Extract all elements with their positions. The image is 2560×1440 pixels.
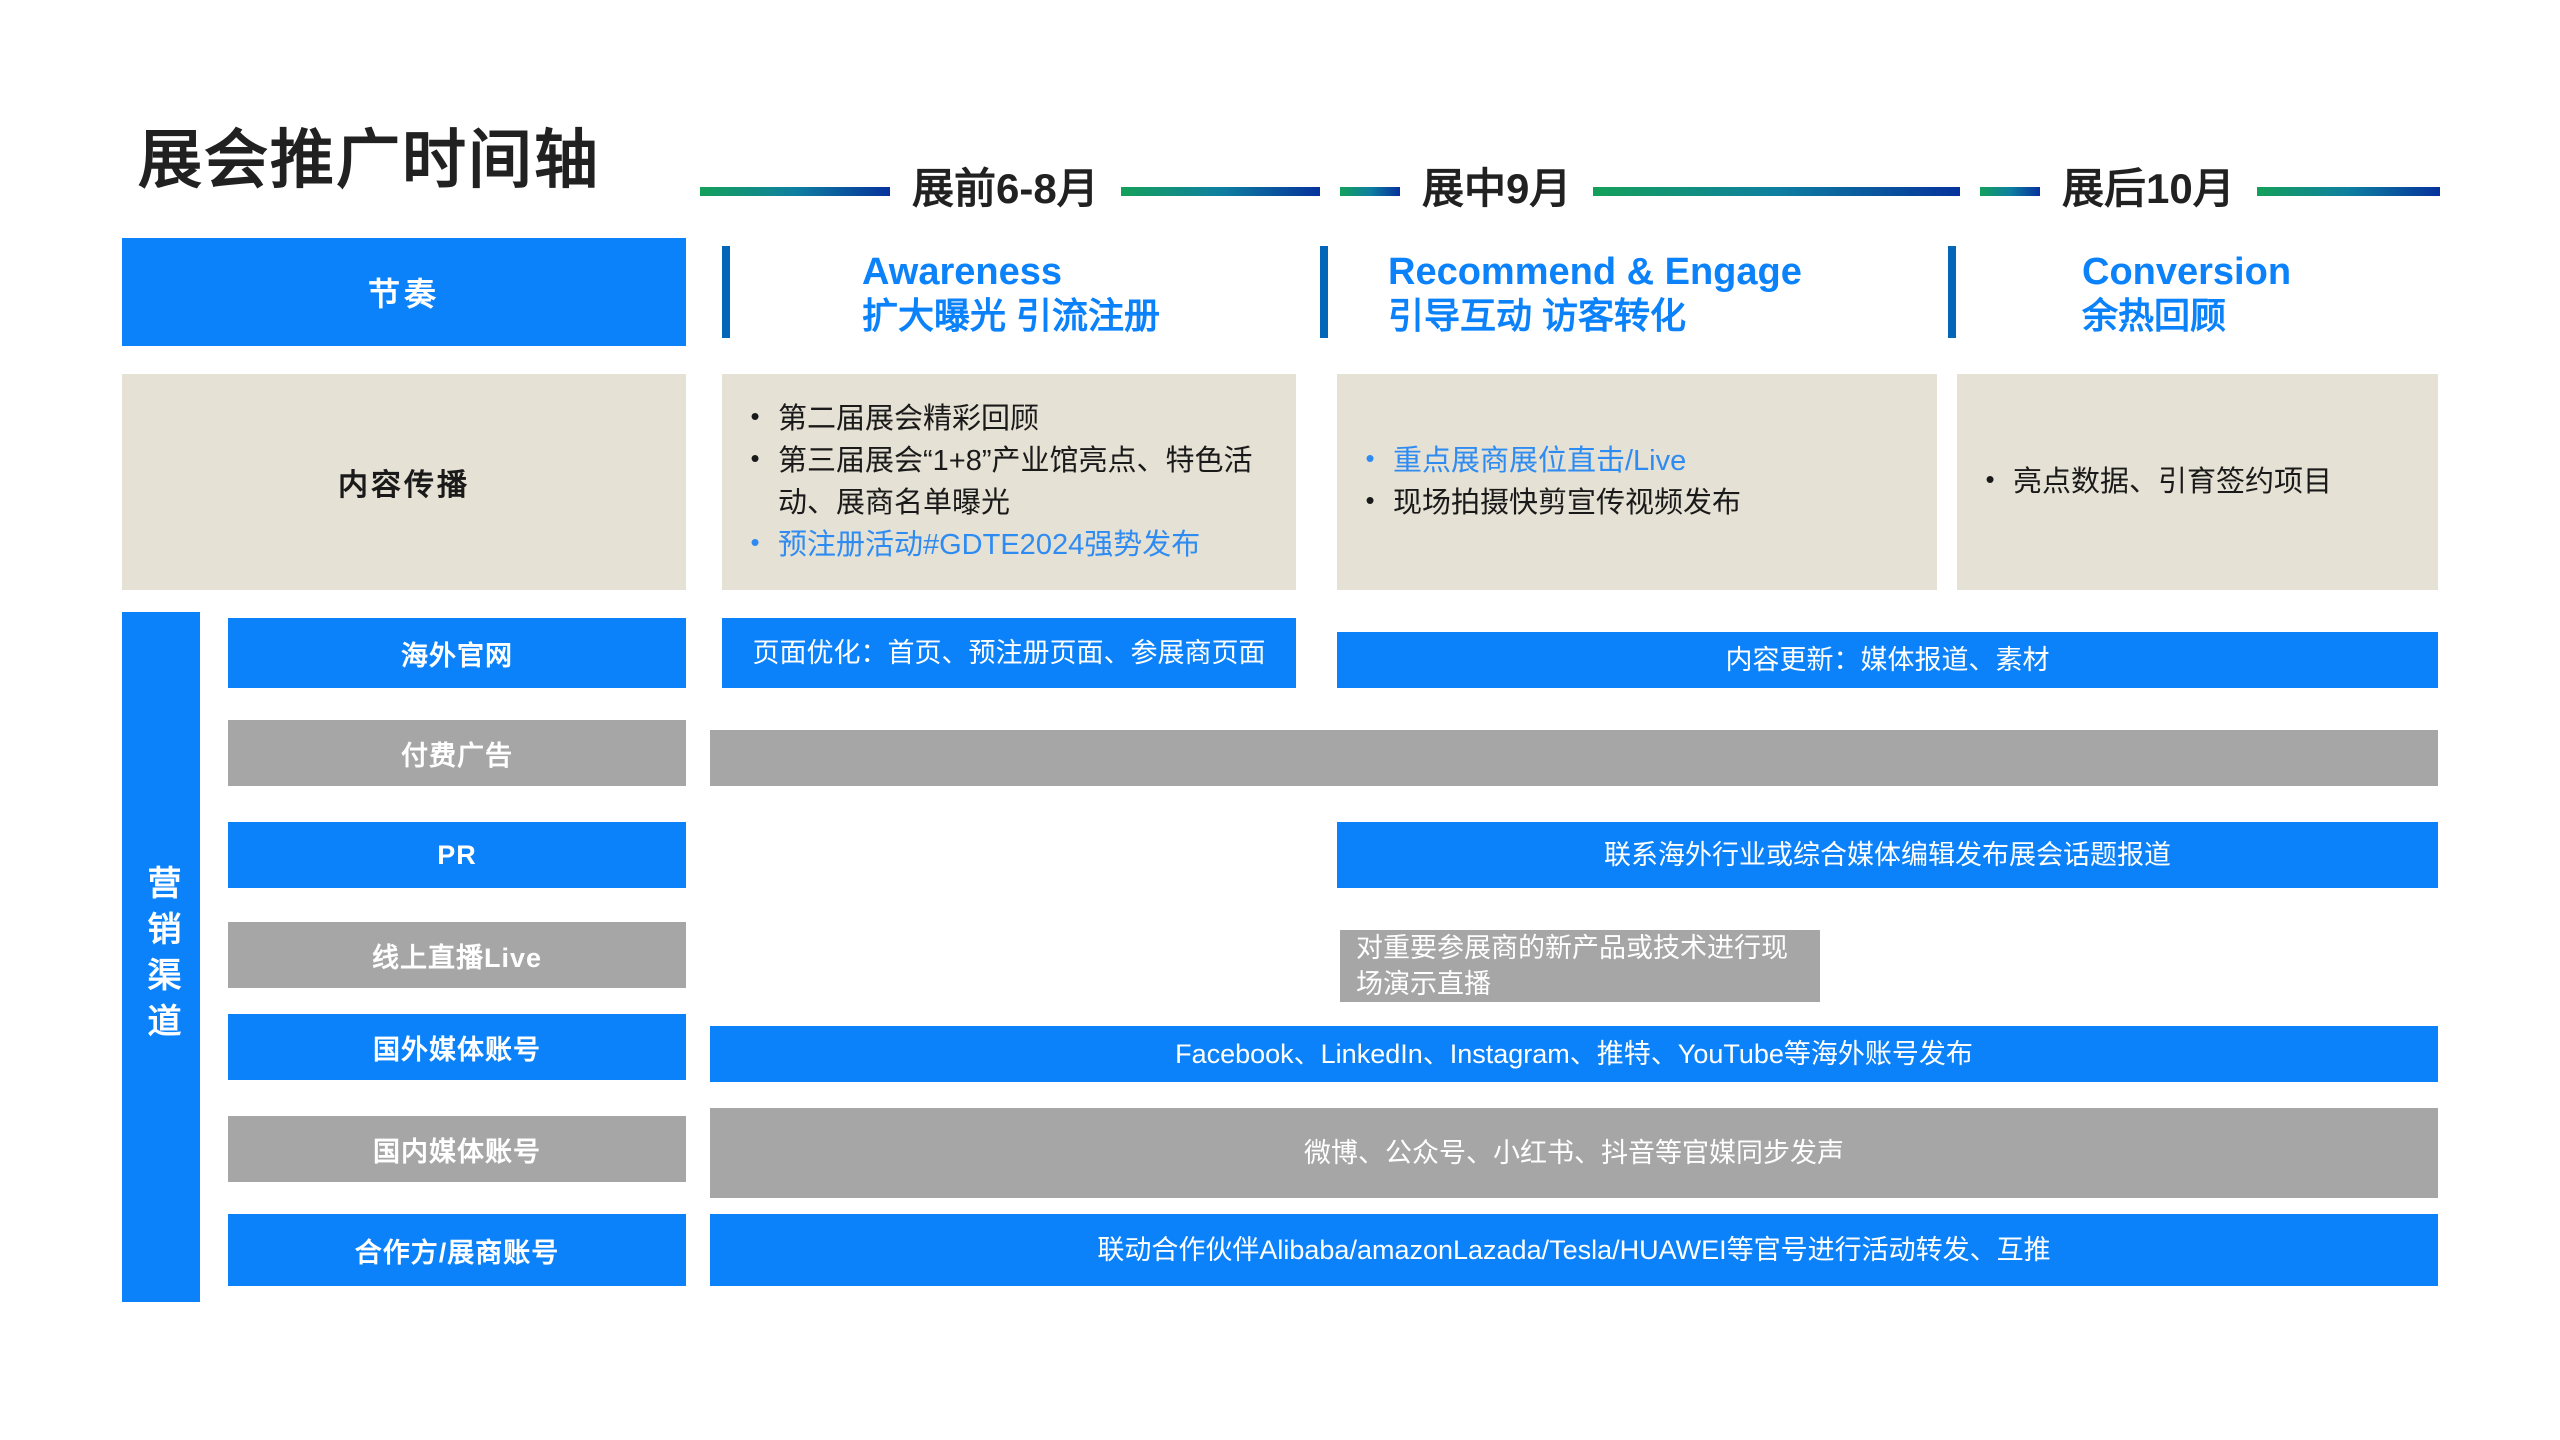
pace-en-label: Conversion [2082,250,2522,295]
bullet-dot-icon: • [1347,482,1393,520]
content-bullet: • 第三届展会“1+8”产业馆亮点、特色活动、展商名单曝光 [732,440,1270,524]
channel-bar-overseas-media-full[interactable]: Facebook、LinkedIn、Instagram、推特、YouTube等海… [710,1026,2438,1082]
channel-bar-text: Facebook、LinkedIn、Instagram、推特、YouTube等海… [724,1036,2424,1072]
channel-label-text: 线上直播Live [372,936,542,975]
timeline-line-icon [700,187,890,196]
pace-divider-1 [722,246,730,338]
content-cell-post: • 亮点数据、引育签约项目 [1957,374,2438,590]
timeline-line-icon [2257,187,2440,196]
channel-label-text: 国内媒体账号 [373,1130,541,1169]
row-label-content-text: 内容传播 [338,460,470,504]
channel-label-overseas-site[interactable]: 海外官网 [228,618,686,688]
timeline-phase-label: 展前6-8月 [912,168,1099,214]
bullet-dot-icon: • [732,398,778,436]
channel-label-text: PR [437,840,477,871]
channel-bar-text: 微博、公众号、小红书、抖音等官媒同步发声 [724,1135,2424,1171]
timeline-line-icon [1121,187,1320,196]
row-label-content: 内容传播 [122,374,686,590]
timeline-phase-post: 展后10月 [1980,160,2440,222]
channel-label-partner-exhibitor[interactable]: 合作方/展商账号 [228,1214,686,1286]
pace-en-label: Recommend & Engage [1388,250,1928,295]
bullet-dot-icon: • [732,524,778,562]
content-cell-pre: • 第二届展会精彩回顾 • 第三届展会“1+8”产业馆亮点、特色活动、展商名单曝… [722,374,1296,590]
row-label-pace-text: 节奏 [368,269,440,315]
pace-cn-label: 余热回顾 [2082,295,2522,337]
channel-label-domestic-media[interactable]: 国内媒体账号 [228,1116,686,1182]
channel-bar-overseas-site-pre[interactable]: 页面优化：首页、预注册页面、参展商页面 [722,618,1296,688]
channel-bar-text: 联系海外行业或综合媒体编辑发布展会话题报道 [1351,837,2424,873]
channel-label-pr[interactable]: PR [228,822,686,888]
channel-label-text: 国外媒体账号 [373,1028,541,1067]
channel-label-text: 合作方/展商账号 [355,1231,560,1270]
timeline-line-icon [1340,187,1400,196]
content-cell-mid: • 重点展商展位直击/Live • 现场拍摄快剪宣传视频发布 [1337,374,1937,590]
channel-bar-text: 内容更新：媒体报道、素材 [1351,642,2424,678]
content-bullet-text: 第二届展会精彩回顾 [778,398,1270,440]
pace-cn-label: 扩大曝光 引流注册 [862,295,1302,337]
timeline-phase-label: 展中9月 [1422,168,1571,214]
row-label-pace: 节奏 [122,238,686,346]
content-bullet-text: 亮点数据、引育签约项目 [2013,461,2412,503]
content-bullet-text: 重点展商展位直击/Live [1393,440,1911,482]
pace-divider-3 [1948,246,1956,338]
content-bullet: • 亮点数据、引育签约项目 [1967,461,2412,503]
channel-label-paid-ads[interactable]: 付费广告 [228,720,686,786]
content-bullet: • 重点展商展位直击/Live [1347,440,1911,482]
channel-label-text: 海外官网 [401,634,513,673]
bullet-dot-icon: • [1347,440,1393,478]
channel-bar-text: 对重要参展商的新产品或技术进行现场演示直播 [1356,930,1804,1003]
content-bullet: • 预注册活动#GDTE2024强势发布 [732,524,1270,566]
pace-divider-2 [1320,246,1328,338]
channel-bar-overseas-site-mid-post[interactable]: 内容更新：媒体报道、素材 [1337,632,2438,688]
channel-bar-text: 页面优化：首页、预注册页面、参展商页面 [736,635,1282,671]
channel-bar-domestic-media-full[interactable]: 微博、公众号、小红书、抖音等官媒同步发声 [710,1108,2438,1198]
group-label-marketing-channels: 营销渠道 [122,612,200,1302]
content-bullet-text: 现场拍摄快剪宣传视频发布 [1393,482,1911,524]
channel-label-overseas-media[interactable]: 国外媒体账号 [228,1014,686,1080]
content-bullet: • 第二届展会精彩回顾 [732,398,1270,440]
channel-label-live-stream[interactable]: 线上直播Live [228,922,686,988]
group-label-marketing-channels-text: 营销渠道 [144,865,178,1049]
channel-bar-partner-exhibitor-full[interactable]: 联动合作伙伴Alibaba/amazonLazada/Tesla/HUAWEI等… [710,1214,2438,1286]
channel-bar-pr-mid-post[interactable]: 联系海外行业或综合媒体编辑发布展会话题报道 [1337,822,2438,888]
timeline-line-icon [1980,187,2040,196]
pace-cn-label: 引导互动 访客转化 [1388,295,1928,337]
channel-bar-paid-ads-full[interactable] [710,730,2438,786]
content-bullet-text: 第三届展会“1+8”产业馆亮点、特色活动、展商名单曝光 [778,440,1270,524]
timeline-phase-label: 展后10月 [2062,168,2235,214]
pace-cell-mid: Recommend & Engage 引导互动 访客转化 [1388,236,1928,352]
timeline-phase-mid: 展中9月 [1340,160,1960,222]
pace-en-label: Awareness [862,250,1302,295]
content-bullet-text: 预注册活动#GDTE2024强势发布 [778,524,1270,566]
timeline-line-icon [1593,187,1960,196]
content-bullet: • 现场拍摄快剪宣传视频发布 [1347,482,1911,524]
bullet-dot-icon: • [1967,461,2013,499]
channel-label-text: 付费广告 [401,734,513,773]
channel-bar-live-stream-mid[interactable]: 对重要参展商的新产品或技术进行现场演示直播 [1340,930,1820,1002]
pace-cell-pre: Awareness 扩大曝光 引流注册 [862,236,1302,352]
timeline-phase-pre: 展前6-8月 [700,160,1320,222]
bullet-dot-icon: • [732,440,778,478]
channel-bar-text: 联动合作伙伴Alibaba/amazonLazada/Tesla/HUAWEI等… [724,1232,2424,1268]
page-title: 展会推广时间轴 [138,128,600,192]
pace-cell-post: Conversion 余热回顾 [2082,236,2522,352]
